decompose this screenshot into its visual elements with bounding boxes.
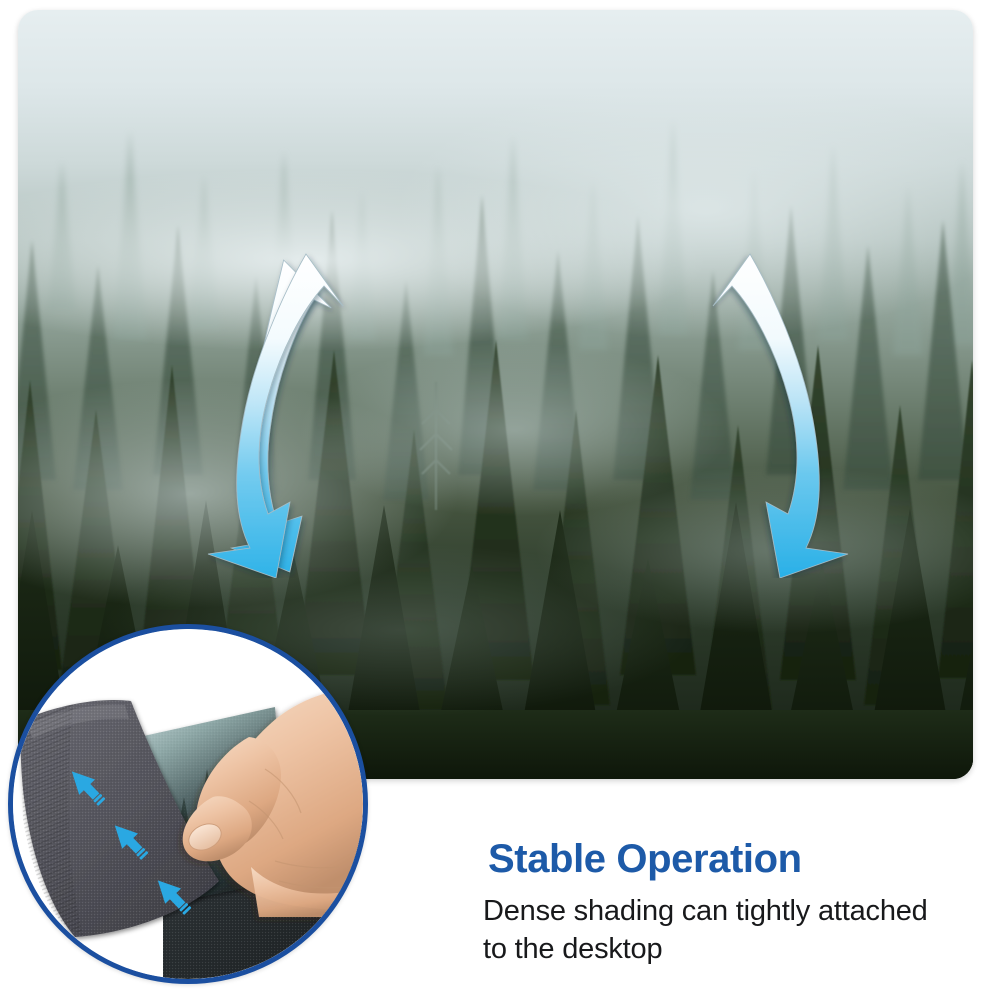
hand-lifting-mousepad-illustration	[13, 629, 363, 979]
caption-block: Stable Operation Dense shading can tight…	[483, 838, 953, 969]
caption-body-line-1: Dense shading can tightly attached	[483, 893, 953, 931]
anti-slip-base-inset	[8, 624, 368, 984]
caption-body-line-2: to the desktop	[483, 931, 953, 969]
caption-heading: Stable Operation	[488, 838, 953, 881]
